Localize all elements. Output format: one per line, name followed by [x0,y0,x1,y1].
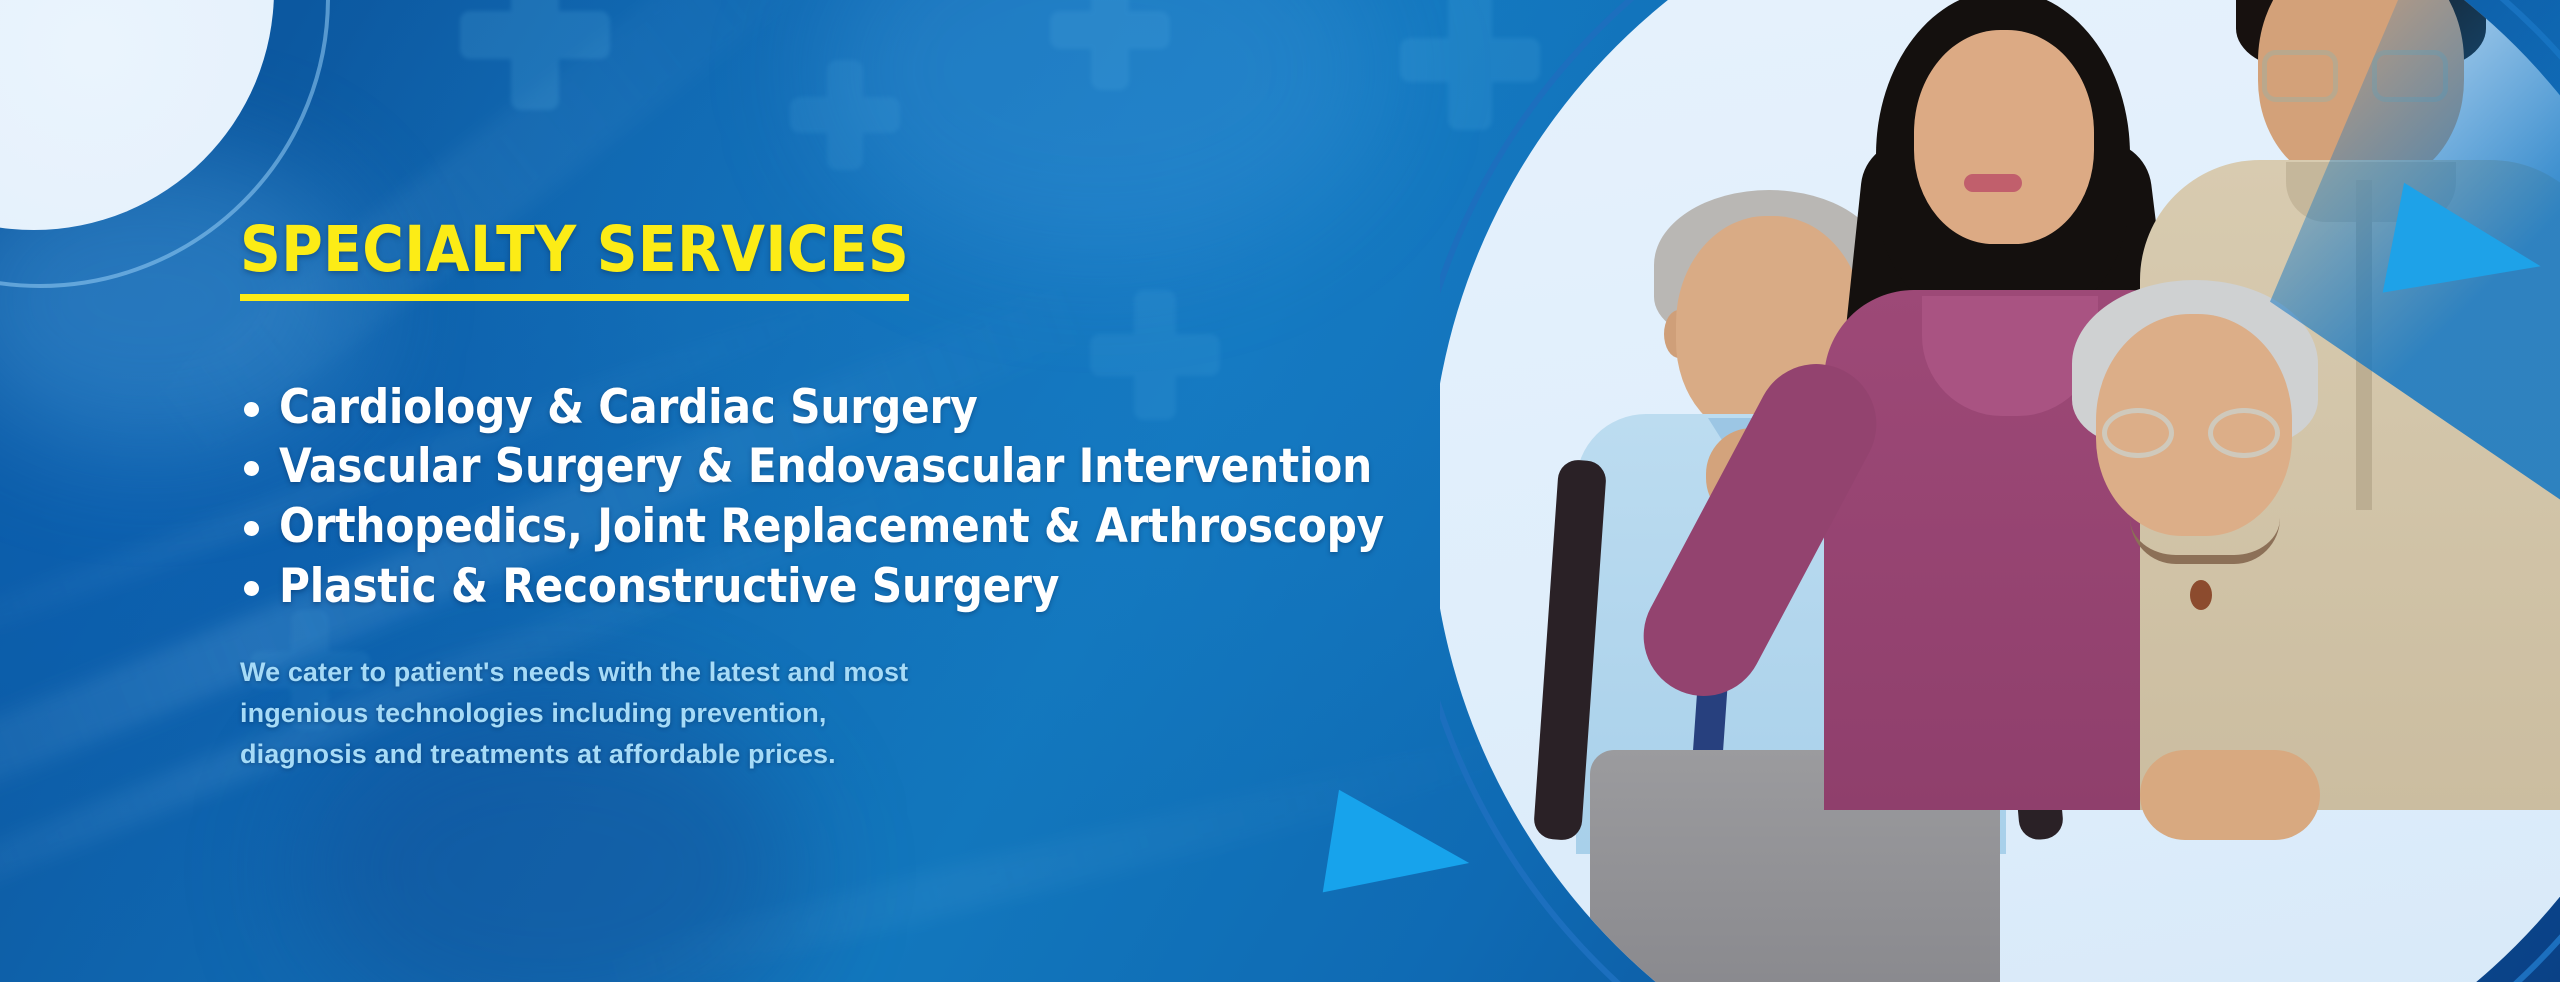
service-label: Vascular Surgery & Endovascular Interven… [279,437,1372,497]
list-item: Vascular Surgery & Endovascular Interven… [240,437,1420,497]
medical-cross-icon [460,0,610,110]
list-item: Plastic & Reconstructive Surgery [240,557,1420,617]
medical-cross-icon [1050,0,1170,90]
description-text: We cater to patient's needs with the lat… [240,652,940,775]
necklace [2130,518,2280,564]
hands [2140,750,2320,840]
service-label: Cardiology & Cardiac Surgery [279,378,978,438]
bullet-icon [244,461,259,476]
eyeglasses [2208,408,2280,458]
service-label: Orthopedics, Joint Replacement & Arthros… [279,497,1384,557]
family-photo-stage [1440,0,2560,982]
service-label: Plastic & Reconstructive Surgery [279,557,1059,617]
list-item: Orthopedics, Joint Replacement & Arthros… [240,497,1420,557]
face [1914,30,2094,244]
bullet-icon [244,402,259,417]
text-column: SPECIALTY SERVICES Cardiology & Cardiac … [240,176,1420,803]
services-list: Cardiology & Cardiac Surgery Vascular Su… [240,378,1420,617]
bullet-icon [244,521,259,536]
eyeglasses [2102,408,2174,458]
person-elderly-woman [1990,280,2420,850]
bullet-icon [244,581,259,596]
page-title: SPECIALTY SERVICES [240,218,909,301]
lips [1964,174,2022,192]
medical-cross-icon [790,60,900,170]
list-item: Cardiology & Cardiac Surgery [240,378,1420,438]
eyeglasses [2262,50,2338,102]
specialty-services-banner: SPECIALTY SERVICES Cardiology & Cardiac … [0,0,2560,982]
pendant [2190,580,2212,610]
cyan-arrow-icon [1323,790,1478,915]
